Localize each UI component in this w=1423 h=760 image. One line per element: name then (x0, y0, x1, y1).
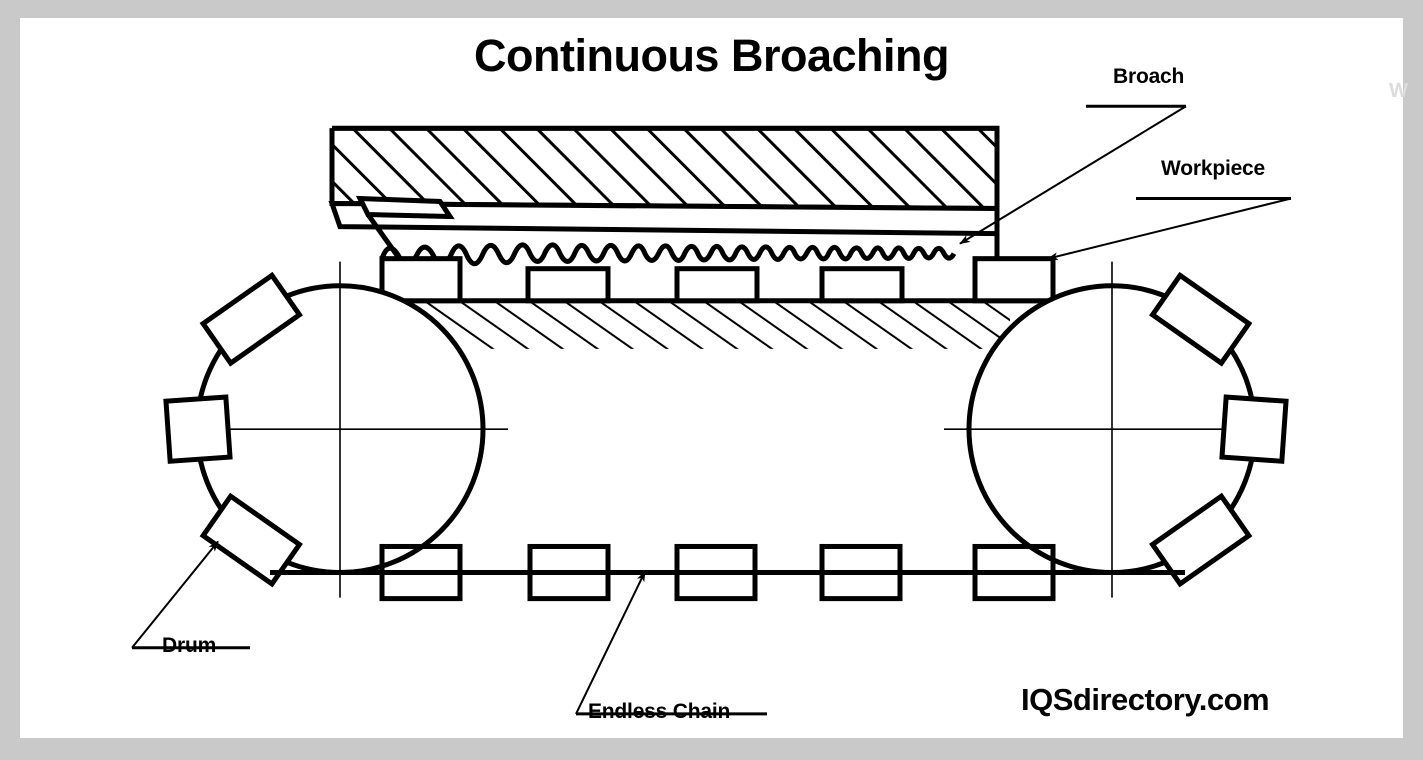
iqs-watermark: IQSdirectory.com (1021, 682, 1269, 718)
workpiece-upper-5 (975, 259, 1053, 301)
workpiece-upper-3 (677, 269, 757, 301)
continuous-broaching-schematic (20, 18, 1403, 738)
workpiece-leader-line (1048, 199, 1291, 259)
broach-body-hatch (332, 128, 997, 208)
faint-watermark: W (1389, 80, 1407, 103)
drum-left-fixture-middle (166, 397, 230, 461)
broach-teeth-edge (382, 245, 954, 265)
workpiece-upper-2 (528, 269, 608, 301)
workpiece-upper-4 (822, 269, 902, 301)
diagram-canvas: Continuous Broaching (20, 18, 1403, 738)
label-workpiece: Workpiece (1161, 157, 1265, 181)
image-frame: Continuous Broaching (0, 0, 1423, 760)
drum-leader-line (132, 541, 218, 647)
broach-assembly (332, 128, 997, 265)
label-endless-chain: Endless Chain (588, 700, 730, 724)
label-drum: Drum (162, 634, 216, 658)
drum-right-fixture-middle (1222, 397, 1286, 461)
broach-first-tooth (360, 199, 450, 217)
label-broach: Broach (1113, 65, 1184, 89)
